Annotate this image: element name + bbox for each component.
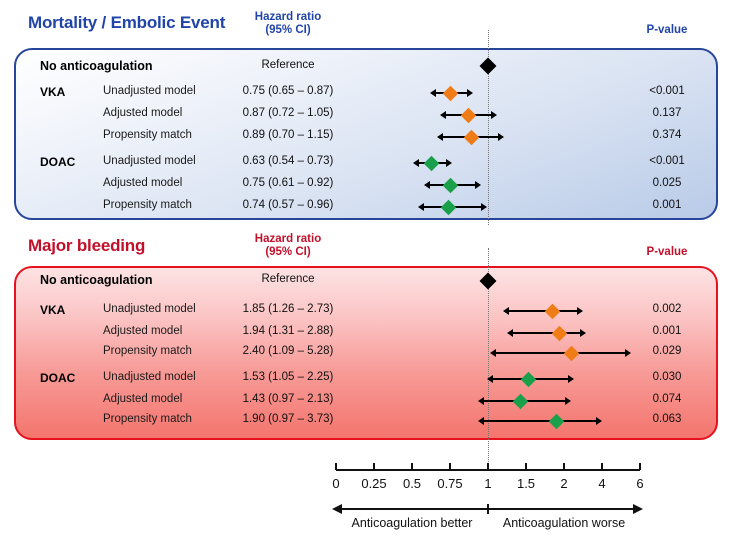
table-row: Adjusted model 1.43 (0.97 – 2.13) 0.074 xyxy=(0,393,750,410)
row-hr-value: 1.90 (0.97 – 3.73) xyxy=(208,413,368,425)
row-model-label: Unadjusted model xyxy=(103,155,196,167)
row-group-label: No anticoagulation xyxy=(40,273,153,287)
axis-tick-label: 1 xyxy=(484,476,491,491)
row-p-value: 0.001 xyxy=(620,199,714,211)
row-group-label: DOAC xyxy=(40,371,102,385)
axis-tick-label: 0.75 xyxy=(437,476,462,491)
row-p-value: 0.074 xyxy=(620,393,714,405)
axis-tick-label: 4 xyxy=(598,476,605,491)
pvalue-header-mortality: P-value xyxy=(620,24,714,36)
row-p-value: 0.002 xyxy=(620,303,714,315)
row-p-value: 0.374 xyxy=(620,129,714,141)
row-hr-value: Reference xyxy=(208,273,368,285)
axis-tick-label: 6 xyxy=(636,476,643,491)
table-row: Adjusted model 0.75 (0.61 – 0.92) 0.025 xyxy=(0,177,750,194)
row-model-label: Adjusted model xyxy=(103,325,182,337)
table-row: Propensity match 2.40 (1.09 – 5.28) 0.02… xyxy=(0,345,750,362)
row-p-value: 0.029 xyxy=(620,345,714,357)
row-model-label: Unadjusted model xyxy=(103,371,196,383)
row-hr-value: 1.43 (0.97 – 2.13) xyxy=(208,393,368,405)
direction-bar-better xyxy=(342,508,488,510)
row-hr-value: 0.89 (0.70 – 1.15) xyxy=(208,129,368,141)
axis-tick xyxy=(639,463,641,470)
arrow-right-icon xyxy=(633,504,643,514)
row-p-value: 0.137 xyxy=(620,107,714,119)
row-hr-value: 0.74 (0.57 – 0.96) xyxy=(208,199,368,211)
axis-tick-label: 2 xyxy=(560,476,567,491)
row-model-label: Unadjusted model xyxy=(103,85,196,97)
row-p-value: 0.025 xyxy=(620,177,714,189)
direction-cap-better xyxy=(487,504,489,514)
hr-header-line2: (95% CI) xyxy=(265,246,310,258)
axis-tick-label: 0.5 xyxy=(403,476,421,491)
arrow-left-icon xyxy=(332,504,342,514)
axis-tick xyxy=(487,463,489,470)
hr-header-line1: Hazard ratio xyxy=(255,233,321,245)
row-p-value: 0.030 xyxy=(620,371,714,383)
direction-bar-worse xyxy=(488,508,634,510)
pvalue-header-bleeding: P-value xyxy=(620,246,714,258)
table-row: Adjusted model 0.87 (0.72 – 1.05) 0.137 xyxy=(0,107,750,124)
forest-plot-figure: Mortality / Embolic Event Hazard ratio (… xyxy=(0,0,750,544)
table-row: VKA Unadjusted model 1.85 (1.26 – 2.73) … xyxy=(0,303,750,320)
row-group-label: No anticoagulation xyxy=(40,59,153,73)
row-p-value: 0.063 xyxy=(620,413,714,425)
row-hr-value: Reference xyxy=(208,59,368,71)
row-p-value: 0.001 xyxy=(620,325,714,337)
table-row: VKA Unadjusted model 0.75 (0.65 – 0.87) … xyxy=(0,85,750,102)
row-model-label: Unadjusted model xyxy=(103,303,196,315)
row-hr-value: 0.75 (0.65 – 0.87) xyxy=(208,85,368,97)
hazard-ratio-header-mortality: Hazard ratio (95% CI) xyxy=(208,11,368,37)
hr-header-line1: Hazard ratio xyxy=(255,11,321,23)
table-row: No anticoagulation Reference xyxy=(0,59,750,76)
axis-tick xyxy=(449,463,451,470)
table-row: Propensity match 1.90 (0.97 – 3.73) 0.06… xyxy=(0,413,750,430)
row-hr-value: 1.53 (1.05 – 2.25) xyxy=(208,371,368,383)
row-hr-value: 0.75 (0.61 – 0.92) xyxy=(208,177,368,189)
row-hr-value: 0.63 (0.54 – 0.73) xyxy=(208,155,368,167)
axis-tick xyxy=(563,463,565,470)
row-model-label: Adjusted model xyxy=(103,177,182,189)
table-row: No anticoagulation Reference xyxy=(0,273,750,290)
panel-title-bleeding: Major bleeding xyxy=(28,236,145,256)
panel-title-mortality: Mortality / Embolic Event xyxy=(28,13,225,33)
axis-tick-label: 0.25 xyxy=(361,476,386,491)
row-model-label: Adjusted model xyxy=(103,107,182,119)
row-model-label: Adjusted model xyxy=(103,393,182,405)
axis-tick xyxy=(335,463,337,470)
axis-direction-label-worse: Anticoagulation worse xyxy=(503,516,625,530)
axis-tick xyxy=(373,463,375,470)
table-row: DOAC Unadjusted model 0.63 (0.54 – 0.73)… xyxy=(0,155,750,172)
row-hr-value: 2.40 (1.09 – 5.28) xyxy=(208,345,368,357)
table-row: Adjusted model 1.94 (1.31 – 2.88) 0.001 xyxy=(0,325,750,342)
row-group-label: VKA xyxy=(40,303,102,317)
hr-header-line2: (95% CI) xyxy=(265,24,310,36)
row-p-value: <0.001 xyxy=(620,85,714,97)
axis-tick xyxy=(601,463,603,470)
hazard-ratio-header-bleeding: Hazard ratio (95% CI) xyxy=(208,233,368,259)
row-hr-value: 1.85 (1.26 – 2.73) xyxy=(208,303,368,315)
axis-direction-label-better: Anticoagulation better xyxy=(352,516,473,530)
axis-tick xyxy=(525,463,527,470)
row-hr-value: 1.94 (1.31 – 2.88) xyxy=(208,325,368,337)
row-hr-value: 0.87 (0.72 – 1.05) xyxy=(208,107,368,119)
row-model-label: Propensity match xyxy=(103,413,192,425)
table-row: Propensity match 0.89 (0.70 – 1.15) 0.37… xyxy=(0,129,750,146)
axis-line xyxy=(336,469,640,471)
row-model-label: Propensity match xyxy=(103,199,192,211)
table-row: Propensity match 0.74 (0.57 – 0.96) 0.00… xyxy=(0,199,750,216)
axis-tick xyxy=(411,463,413,470)
row-model-label: Propensity match xyxy=(103,345,192,357)
axis-tick-label: 1.5 xyxy=(517,476,535,491)
row-p-value: <0.001 xyxy=(620,155,714,167)
row-group-label: VKA xyxy=(40,85,102,99)
axis-tick-label: 0 xyxy=(332,476,339,491)
direction-cap-worse xyxy=(487,504,489,514)
row-group-label: DOAC xyxy=(40,155,102,169)
table-row: DOAC Unadjusted model 1.53 (1.05 – 2.25)… xyxy=(0,371,750,388)
row-model-label: Propensity match xyxy=(103,129,192,141)
